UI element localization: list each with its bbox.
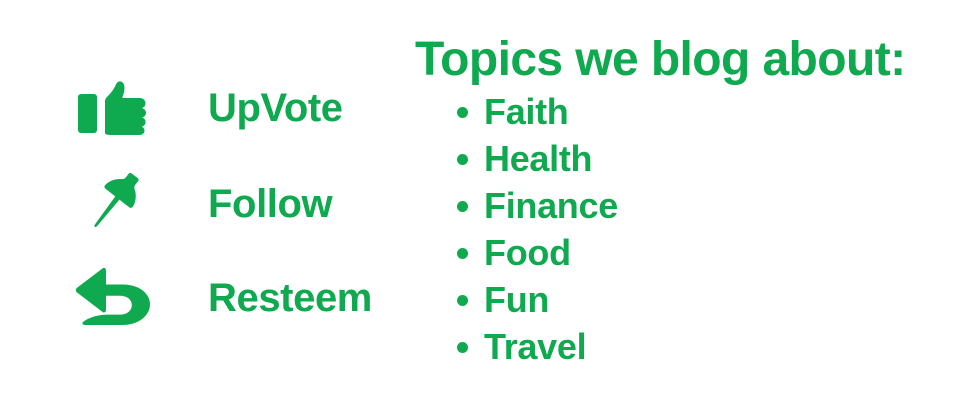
topic-label: Fun — [484, 282, 549, 318]
topics-column: Topics we blog about: Faith Health Finan… — [408, 0, 960, 418]
action-row-follow[interactable]: Follow — [0, 164, 400, 244]
bullet-icon — [457, 107, 468, 118]
bullet-icon — [457, 201, 468, 212]
list-item: Faith — [452, 88, 618, 135]
topics-title: Topics we blog about: — [415, 34, 906, 87]
action-label-follow: Follow — [208, 164, 332, 244]
list-item: Finance — [452, 182, 618, 229]
action-label-resteem: Resteem — [208, 258, 372, 338]
action-label-upvote: UpVote — [208, 68, 343, 148]
bullet-icon — [457, 342, 468, 353]
topic-label: Food — [484, 235, 571, 271]
promo-graphic: UpVote Follow Resteem T — [0, 0, 960, 418]
action-row-resteem[interactable]: Resteem — [0, 258, 400, 338]
bullet-icon — [457, 295, 468, 306]
topic-label: Health — [484, 141, 592, 177]
list-item: Food — [452, 229, 618, 276]
list-item: Fun — [452, 276, 618, 323]
topics-list: Faith Health Finance Food Fun Travel — [452, 88, 618, 370]
actions-column: UpVote Follow Resteem — [0, 0, 400, 418]
list-item: Health — [452, 135, 618, 182]
thumbs-up-icon — [72, 68, 158, 148]
topic-label: Faith — [484, 94, 569, 130]
resteem-arrow-icon — [72, 258, 158, 338]
list-item: Travel — [452, 323, 618, 370]
bullet-icon — [457, 248, 468, 259]
topic-label: Travel — [484, 329, 586, 365]
topic-label: Finance — [484, 188, 618, 224]
bullet-icon — [457, 154, 468, 165]
action-row-upvote[interactable]: UpVote — [0, 68, 400, 148]
pushpin-icon — [72, 164, 158, 244]
